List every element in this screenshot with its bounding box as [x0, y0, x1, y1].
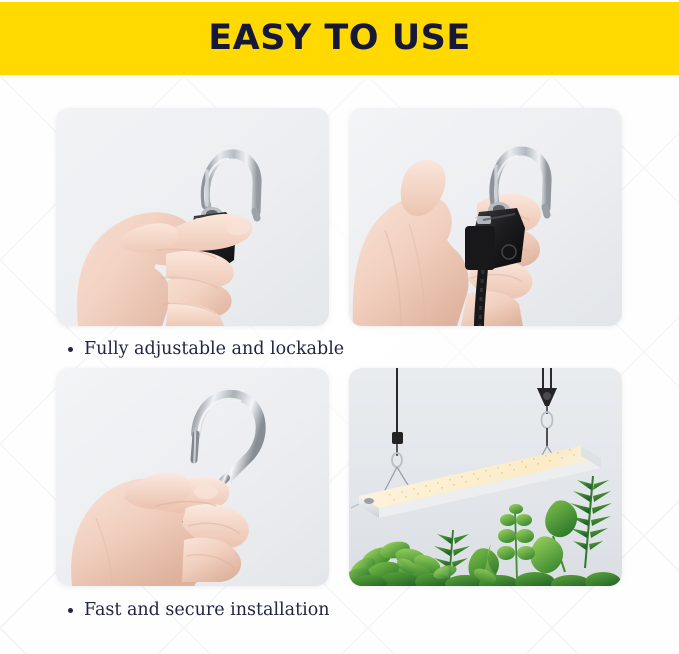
photo-hand-holding-rope-ratchet-with-carabiner — [56, 108, 329, 326]
bullet-point-icon — [68, 608, 73, 613]
image-panel-opening-carabiner — [56, 368, 329, 586]
photo-led-grow-light-hanging-over-plants — [349, 368, 622, 586]
photo-hand-holding-ratchet-side-view — [349, 108, 622, 326]
caption-fast-and-secure-installation: Fast and secure installation — [68, 600, 330, 620]
caption-label: Fast and secure installation — [84, 600, 330, 620]
image-panel-hand-holding-ratchet — [56, 108, 329, 326]
page-title: EASY TO USE — [208, 21, 471, 56]
photo-hand-opening-carabiner-gate — [56, 368, 329, 586]
header-banner: EASY TO USE — [0, 2, 679, 75]
bullet-point-icon — [68, 347, 73, 352]
image-panel-grow-light-over-plants — [349, 368, 622, 586]
image-panel-hand-holding-ratchet-side — [349, 108, 622, 326]
caption-fully-adjustable-and-lockable: Fully adjustable and lockable — [68, 339, 344, 359]
caption-label: Fully adjustable and lockable — [84, 339, 344, 359]
